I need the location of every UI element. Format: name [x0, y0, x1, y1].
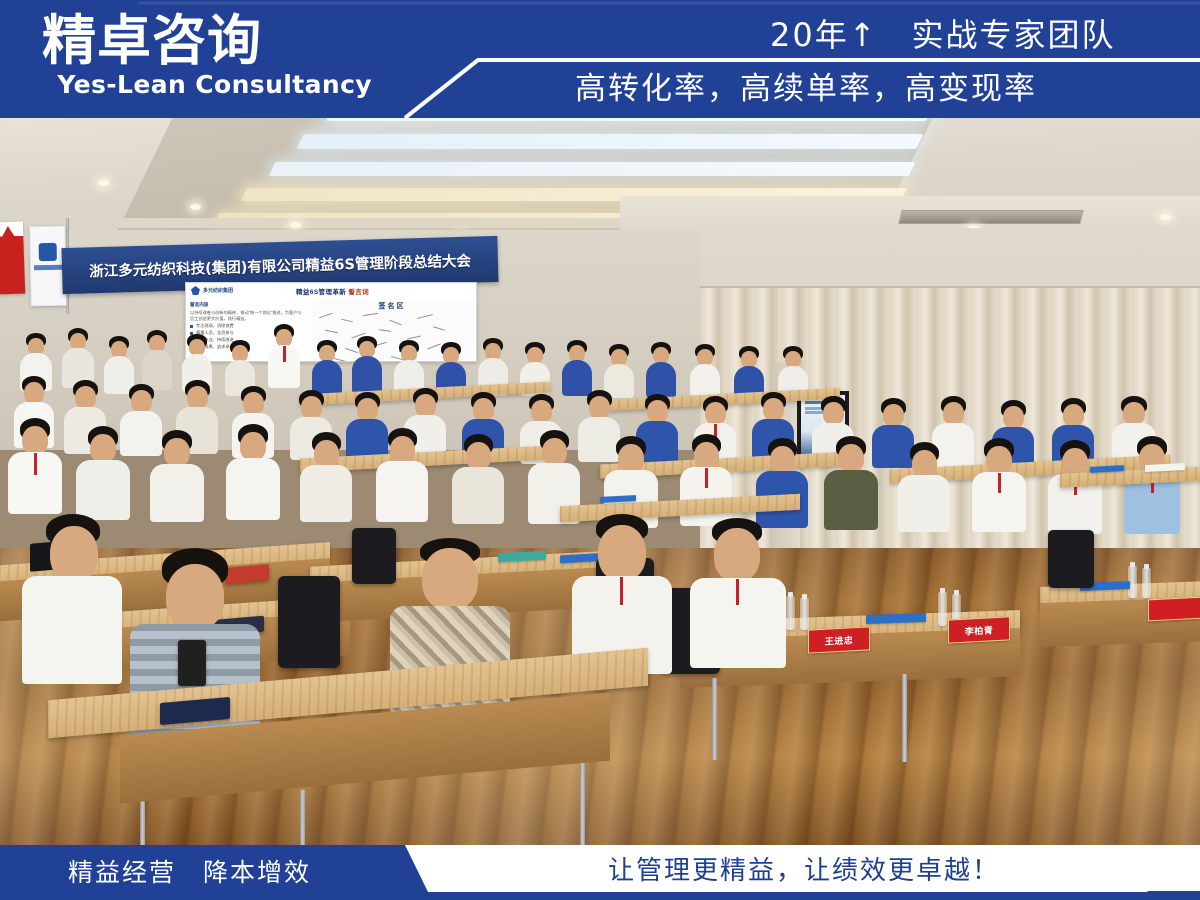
- attendee: [300, 432, 352, 522]
- foreground-attendee: [690, 518, 786, 668]
- head: [598, 525, 646, 581]
- torso: [76, 460, 130, 520]
- attendee: [352, 336, 382, 394]
- slide-title-main: 精益6S管理革新: [296, 289, 346, 296]
- torso: [452, 467, 504, 524]
- torso: [226, 458, 280, 520]
- attendee: [824, 436, 878, 530]
- attendee: [562, 340, 592, 396]
- lanyard: [34, 453, 37, 475]
- slide-signature-title: 签名区: [311, 301, 473, 311]
- ceiling-light-strip: [326, 118, 934, 121]
- slide-left-paragraph: 以持续改善与创新的精神，推动“每一个岗位”推进，为客户与员工创造更大价值，践行精…: [190, 310, 302, 322]
- brand-logo: 精卓咨询 Yes-Lean Consultancy: [42, 12, 372, 100]
- table-leg: [580, 758, 585, 845]
- lanyard: [620, 577, 623, 605]
- head: [589, 396, 610, 419]
- lanyard: [283, 346, 286, 362]
- attendee: [734, 346, 764, 398]
- header-tagline-bottom: 高转化率，高续单率，高变现率: [575, 66, 1190, 112]
- head: [301, 396, 322, 419]
- event-banner-text: 浙江多元纺织科技(集团)有限公司精益6S管理阶段总结大会: [89, 249, 471, 281]
- downlight-icon: [98, 180, 109, 186]
- head: [243, 392, 264, 415]
- torso: [376, 461, 428, 522]
- attendee: [226, 424, 280, 520]
- red-roll-up-banner: [0, 222, 25, 295]
- head: [164, 438, 190, 467]
- head: [823, 402, 844, 425]
- smartphone: [178, 640, 206, 686]
- table-leg: [902, 674, 907, 762]
- chair: [278, 576, 340, 668]
- head: [770, 446, 795, 474]
- head: [1123, 402, 1145, 425]
- head: [75, 386, 96, 409]
- head: [390, 436, 415, 464]
- consultancy-banner-text: [34, 265, 62, 270]
- head: [1003, 406, 1024, 429]
- torso: [352, 356, 382, 394]
- slide-logo-mark-icon: [191, 286, 200, 295]
- torso: [22, 576, 122, 684]
- downlight-icon: [290, 222, 301, 228]
- foreground-attendee: [22, 514, 122, 684]
- water-bottle: [786, 596, 795, 630]
- water-bottle: [938, 592, 947, 626]
- attendee: [452, 434, 504, 524]
- footer-left-text: 精益经营 降本增效: [68, 845, 311, 900]
- head: [912, 450, 937, 478]
- page-footer: 精益经营 降本增效 让管理更精益，让绩效更卓越！: [0, 845, 1200, 900]
- attendee: [972, 438, 1026, 532]
- brand-logo-cn: 精卓咨询: [42, 12, 372, 70]
- head: [166, 564, 224, 630]
- table-leg: [300, 790, 305, 845]
- attendee: [1124, 436, 1180, 534]
- torso: [898, 475, 950, 532]
- air-vent: [898, 210, 1083, 224]
- head: [415, 394, 436, 417]
- slide-left-heading: 誓言内容: [190, 302, 302, 308]
- brand-logo-en: Yes-Lean Consultancy: [42, 70, 372, 100]
- lanyard: [705, 468, 708, 488]
- head: [838, 444, 864, 473]
- slide-title-accent: 誓言词: [348, 289, 369, 296]
- head: [1063, 404, 1084, 427]
- torso: [646, 362, 676, 398]
- downlight-icon: [1160, 214, 1171, 220]
- attendee: [150, 430, 204, 522]
- head: [466, 442, 491, 470]
- head: [883, 404, 904, 427]
- attendee: [8, 418, 62, 514]
- torso: [824, 470, 878, 530]
- event-photograph: 浙江多元纺织科技(集团)有限公司精益6S管理阶段总结大会 多元纺织集团 精益6S…: [0, 118, 1200, 845]
- poster-page: 精卓咨询 Yes-Lean Consultancy 20年↑ 实战专家团队 高转…: [0, 0, 1200, 900]
- torso: [300, 465, 352, 522]
- head: [986, 446, 1012, 475]
- head: [763, 398, 784, 421]
- attendee: [76, 426, 130, 520]
- head: [187, 386, 208, 409]
- head: [531, 400, 552, 423]
- head: [618, 444, 644, 473]
- water-bottle: [1142, 568, 1151, 598]
- head: [314, 440, 339, 468]
- head: [22, 426, 48, 455]
- head: [714, 528, 760, 582]
- head: [357, 398, 378, 421]
- head: [90, 434, 116, 463]
- slide-logo-text: 多元纺织集团: [203, 287, 233, 294]
- ceiling-light-strip: [269, 162, 916, 176]
- consultancy-logo-icon: [39, 243, 57, 261]
- nameplate: 王进忠: [808, 626, 870, 653]
- lanyard: [998, 473, 1001, 493]
- head: [694, 442, 719, 470]
- head: [473, 398, 494, 421]
- table-leg: [712, 678, 717, 760]
- head: [240, 432, 266, 461]
- presenter: [268, 324, 300, 388]
- slide-header: 多元纺织集团 精益6S管理革新 誓言词: [186, 283, 476, 300]
- attendee: [376, 428, 428, 522]
- attendee: [646, 342, 676, 398]
- slide-title: 精益6S管理革新 誓言词: [296, 286, 369, 296]
- chair: [1048, 530, 1094, 588]
- nameplate-text: 李柏青: [965, 623, 994, 637]
- water-bottle: [800, 598, 809, 630]
- head: [24, 382, 44, 404]
- attendee: [756, 438, 808, 528]
- head: [50, 526, 98, 582]
- page-header: 精卓咨询 Yes-Lean Consultancy 20年↑ 实战专家团队 高转…: [0, 0, 1200, 118]
- attendee: [142, 330, 172, 390]
- nameplate: [1148, 597, 1200, 622]
- red-banner-mark-icon: [1, 226, 15, 238]
- torso: [150, 464, 204, 522]
- header-tagline-top: 20年↑ 实战专家团队: [770, 12, 1190, 58]
- head: [943, 402, 964, 425]
- head: [705, 402, 726, 425]
- nameplate: 李柏青: [948, 616, 1010, 643]
- ceiling-light-strip: [296, 134, 923, 149]
- attendee: [312, 340, 342, 396]
- head: [131, 390, 152, 413]
- lanyard: [736, 579, 739, 605]
- attendee: [898, 442, 950, 532]
- footer-right-text: 让管理更精益，让绩效更卓越！: [608, 845, 1000, 897]
- head: [542, 438, 567, 466]
- slide-company-logo: 多元纺织集团: [191, 286, 233, 295]
- torso: [690, 364, 720, 398]
- head: [647, 400, 668, 423]
- nameplate-text: 王进忠: [825, 633, 854, 647]
- head: [422, 548, 478, 610]
- attendee: [690, 344, 720, 398]
- downlight-icon: [190, 204, 201, 210]
- attendee: [62, 328, 94, 388]
